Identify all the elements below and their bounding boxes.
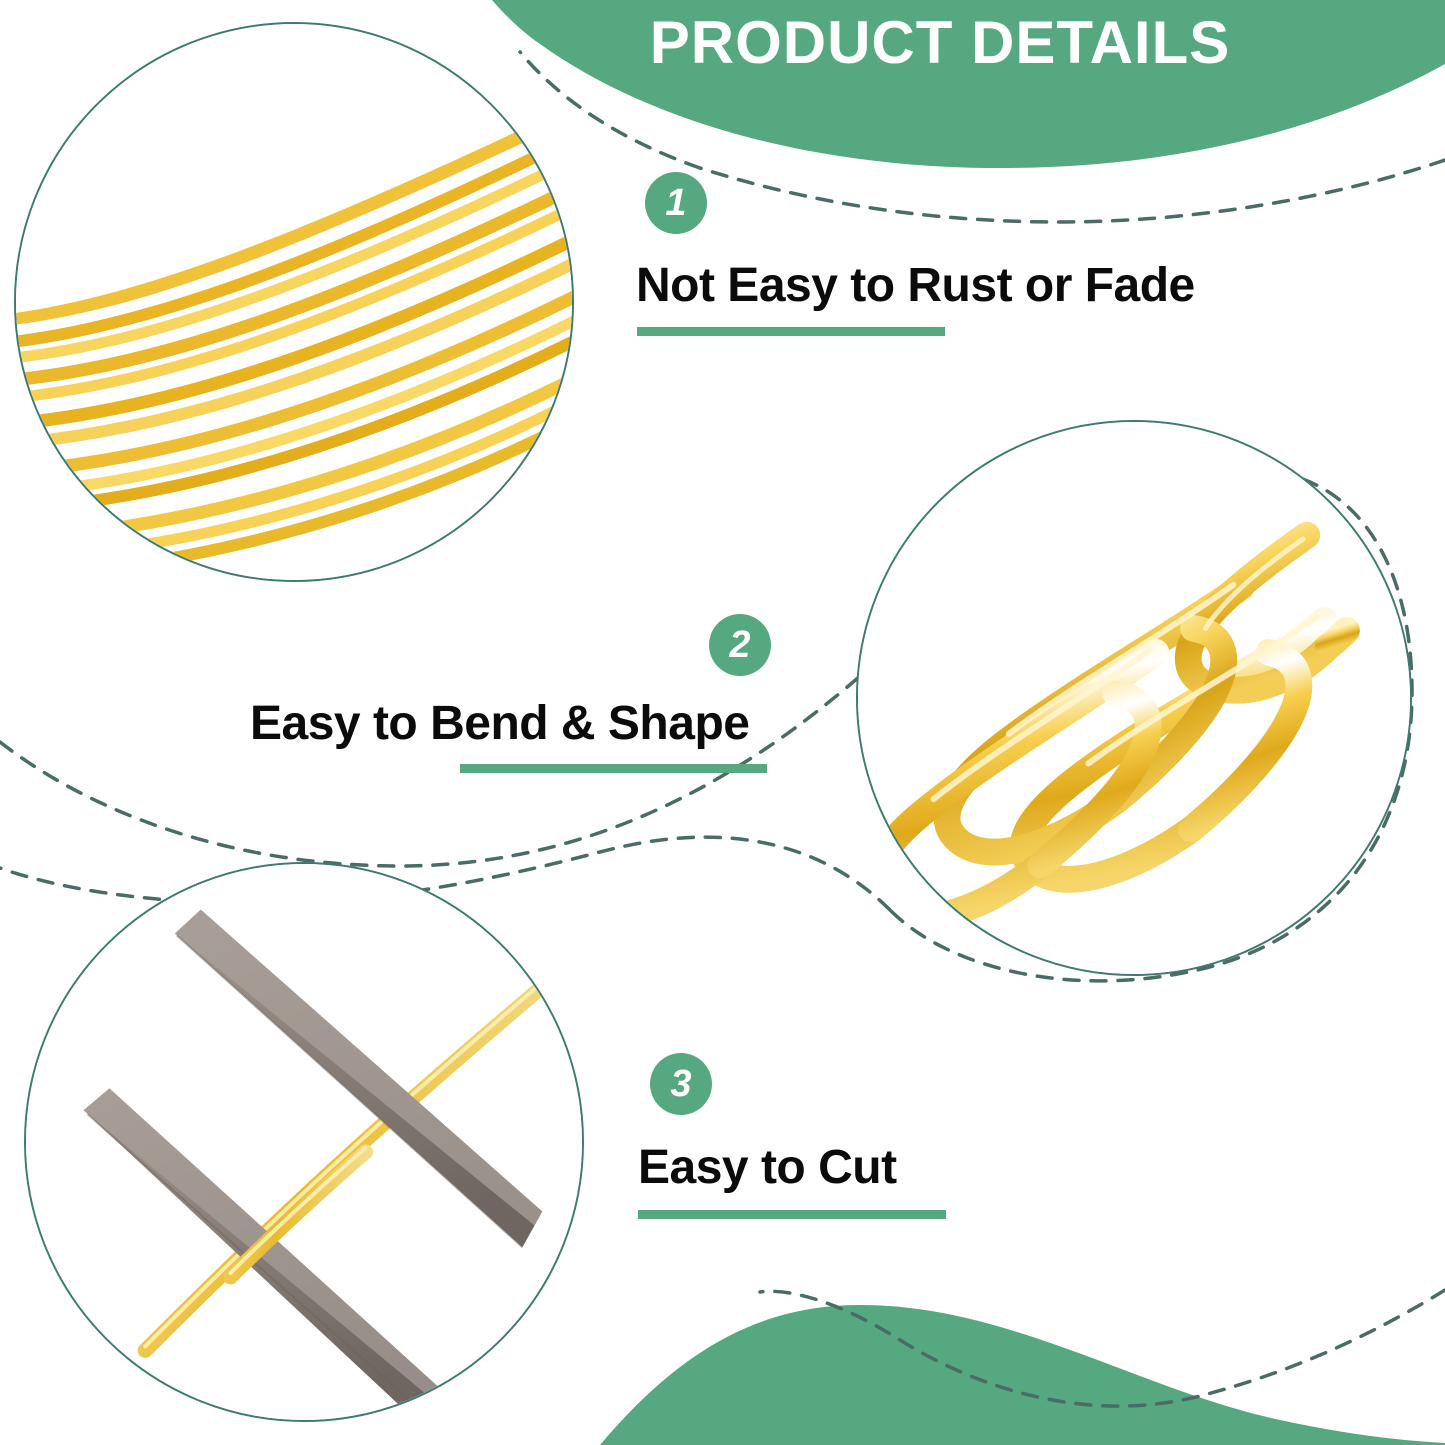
feature-title-1: Not Easy to Rust or Fade — [636, 258, 1195, 313]
feature-underline-2 — [460, 764, 767, 773]
feature-title-3: Easy to Cut — [638, 1140, 897, 1195]
feature-number-badge-2: 2 — [709, 614, 771, 676]
feature-underline-1 — [637, 327, 945, 336]
product-details-infographic: PRODUCT DETAILS 1 Not Easy to Rust or Fa… — [0, 0, 1445, 1445]
feature-number-badge-3: 3 — [650, 1053, 712, 1115]
content-layer: PRODUCT DETAILS 1 Not Easy to Rust or Fa… — [0, 0, 1445, 1445]
page-title: PRODUCT DETAILS — [620, 8, 1260, 77]
feature-number-badge-1: 1 — [645, 172, 707, 234]
feature-title-2: Easy to Bend & Shape — [250, 696, 749, 751]
feature-underline-3 — [638, 1210, 946, 1219]
